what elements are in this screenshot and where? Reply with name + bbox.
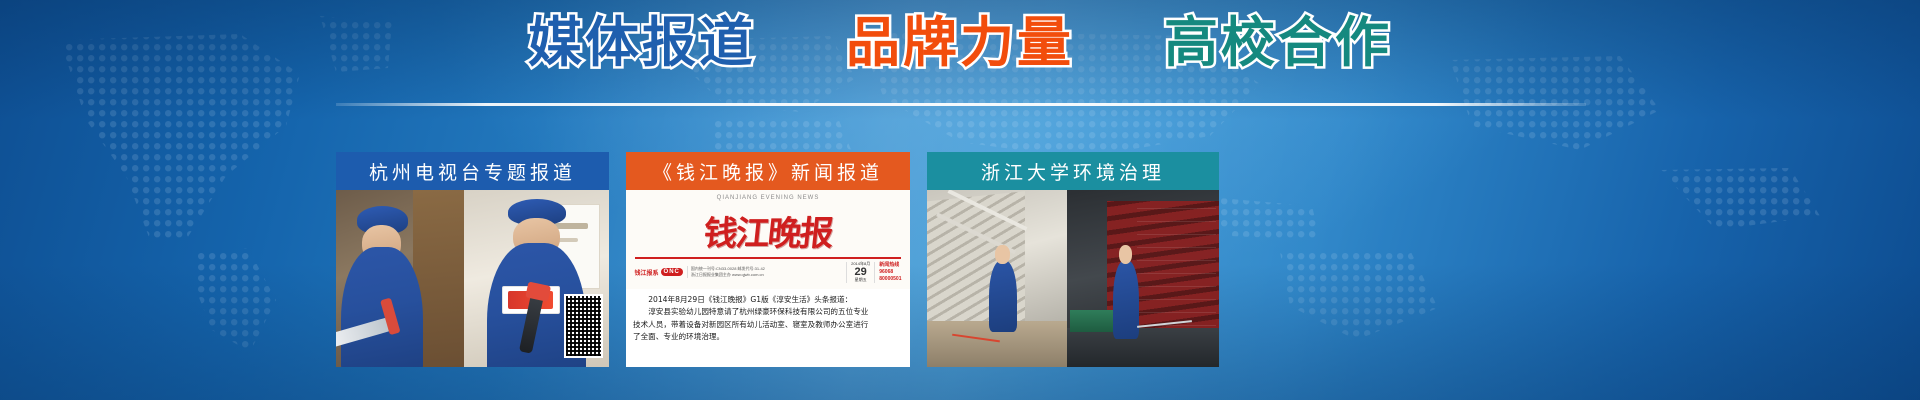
newspaper-hotline-label: 新闻热线 [879,262,901,269]
article-text-block: 2014年8月29日《钱江晚报》G1版《淳安生活》头条报道： 淳安县实验幼儿园特… [626,289,910,367]
newspaper-rule [635,257,902,259]
card-image-newspaper: QIANJIANG EVENING NEWS 钱江晚报 钱江报系 ONC 国内统… [626,190,910,367]
photo-auditorium [1067,190,1219,367]
card-university-cooperation[interactable]: 浙江大学环境治理 [927,152,1219,367]
newspaper-hotline-block: 新闻热线 96068 80000501 [879,262,901,283]
article-line-4: 了全面、专业的环境治理。 [633,331,903,343]
auditorium-floor [1067,328,1219,367]
headline-university-coop: 高校合作 [1164,14,1392,72]
photo-interview [464,190,609,367]
newspaper-masthead-title: 钱江晚报 [626,206,910,255]
seat-rack-lines [1137,208,1216,339]
article-line-2: 淳安县实验幼儿园特意请了杭州绿豪环保科技有限公司的五位专业 [633,306,903,318]
newspaper-info-strip: 钱江报系 ONC 国内统一刊号:CN33-0028 邮发代号:31-42 浙江日… [635,261,902,283]
article-line-1: 2014年8月29日《钱江晚报》G1版《淳安生活》头条报道： [633,294,903,306]
photo-spray-work [336,190,464,367]
card-row: 杭州电视台专题报道 [336,152,1586,367]
newspaper-publisher: 浙江日报报业集团主办 www.qjwb.com.cn [691,272,842,278]
card-tv-report[interactable]: 杭州电视台专题报道 [336,152,609,367]
newspaper-badge-prefix: 钱江报系 [635,268,659,277]
card-caption-newspaper: 《钱江晚报》新闻报道 [626,152,910,190]
card-image-university [927,190,1219,367]
newspaper-license-block: 国内统一刊号:CN33-0028 邮发代号:31-42 浙江日报报业集团主办 w… [687,266,842,278]
card-caption-university: 浙江大学环境治理 [927,152,1219,190]
photo-stairwell [927,190,1067,367]
newspaper-hotline-2: 80000501 [879,276,901,283]
newspaper-clipping: QIANJIANG EVENING NEWS 钱江晚报 钱江报系 ONC 国内统… [626,190,910,289]
newspaper-pinyin: QIANJIANG EVENING NEWS [626,195,910,201]
worker-stairwell [989,261,1017,332]
qr-code-icon [564,294,603,358]
headline-brand-power: 品牌力量 [846,14,1074,72]
promo-banner: 媒体报道 品牌力量 高校合作 杭州电视台专题报道 [0,0,1920,400]
newspaper-hotline-1: 96068 [879,269,901,276]
card-image-tv [336,190,609,367]
worker-auditorium [1113,261,1139,339]
newspaper-badge-onc: ONC [661,268,683,276]
card-newspaper-report[interactable]: 《钱江晚报》新闻报道 QIANJIANG EVENING NEWS 钱江晚报 钱… [626,152,910,367]
card-caption-tv: 杭州电视台专题报道 [336,152,609,190]
newspaper-badge: 钱江报系 ONC [635,268,683,277]
headline-media-coverage: 媒体报道 [528,14,756,72]
article-line-3: 技术人员，带着设备对新园区所有幼儿活动室、寝室及教师办公室进行 [633,319,903,331]
newspaper-date-block: 2014年8月 29 星期五 [846,262,875,283]
newspaper-date-weekday: 星期五 [851,278,870,282]
headline-row: 媒体报道 品牌力量 高校合作 [0,14,1920,72]
headline-divider [336,103,1586,106]
